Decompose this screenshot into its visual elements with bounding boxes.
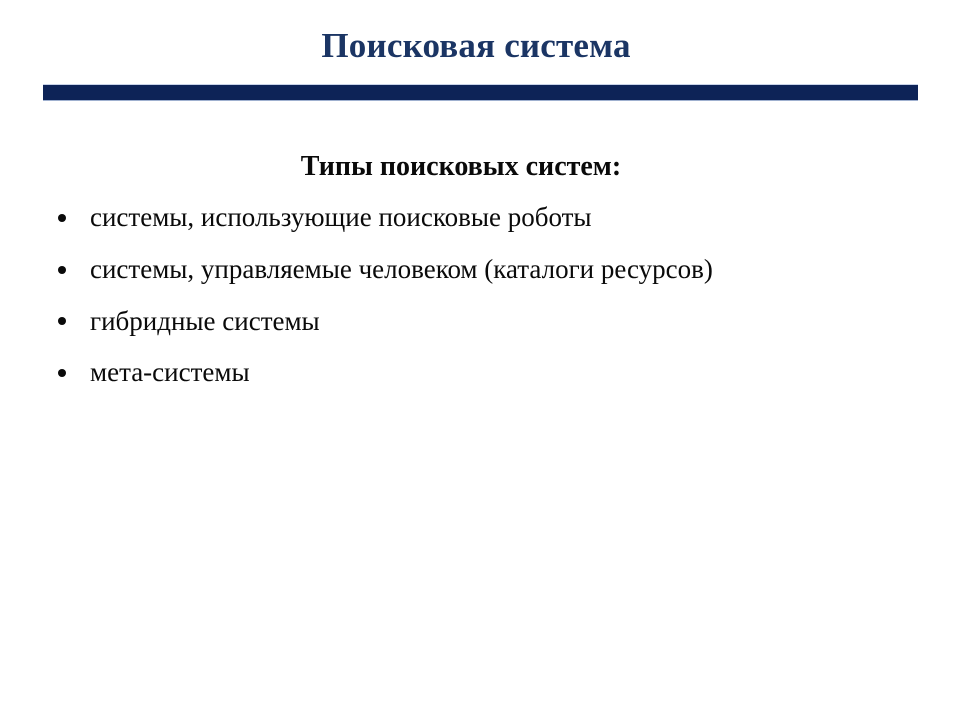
bullet-dot-icon — [58, 214, 66, 222]
bullet-dot-icon — [58, 317, 66, 325]
bullet-dot-icon — [58, 369, 66, 377]
list-item: системы, использующие поисковые роботы — [0, 198, 960, 238]
bullet-dot-icon — [58, 266, 66, 274]
slide: Поисковая система Типы поисковых систем:… — [0, 0, 960, 720]
list-item-label: системы, использующие поисковые роботы — [90, 202, 592, 232]
list-item: гибридные системы — [0, 302, 960, 342]
title-divider-bar — [43, 84, 918, 101]
list-item: системы, управляемые человеком (каталоги… — [0, 250, 960, 290]
list-item-label: гибридные системы — [90, 306, 320, 336]
page-title: Поисковая система — [0, 26, 952, 66]
body-subheading: Типы поисковых систем: — [0, 150, 960, 184]
list-item-label: системы, управляемые человеком (каталоги… — [90, 254, 713, 284]
list-item-label: мета-системы — [90, 357, 250, 387]
bullet-list: системы, использующие поисковые роботы с… — [0, 198, 960, 394]
slide-body: Типы поисковых систем: системы, использу… — [0, 150, 960, 405]
list-item: мета-системы — [0, 353, 960, 393]
